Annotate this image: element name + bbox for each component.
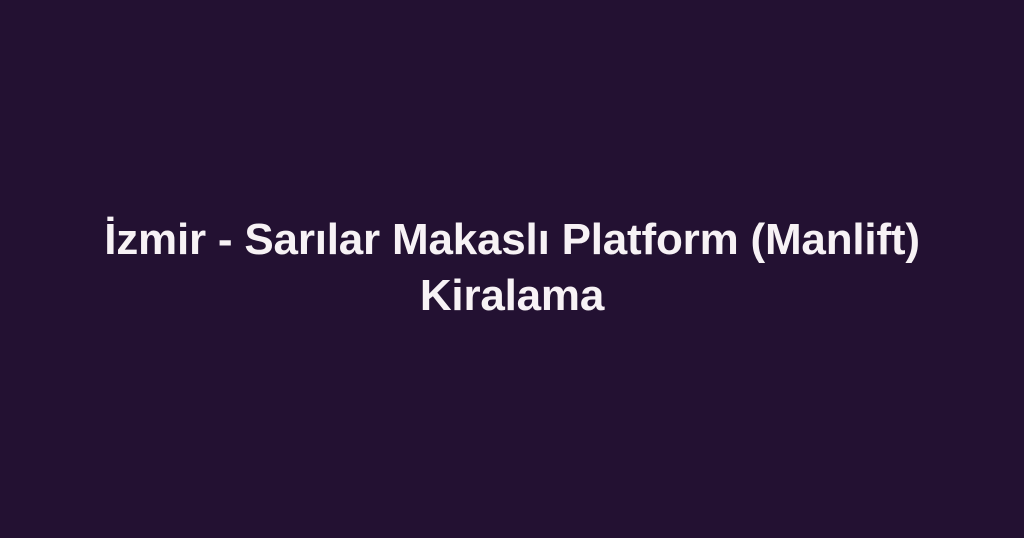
banner-title: İzmir - Sarılar Makaslı Platform (Manlif… [24,212,1000,324]
banner-canvas: İzmir - Sarılar Makaslı Platform (Manlif… [0,0,1024,538]
banner-title-block: İzmir - Sarılar Makaslı Platform (Manlif… [0,212,1024,324]
